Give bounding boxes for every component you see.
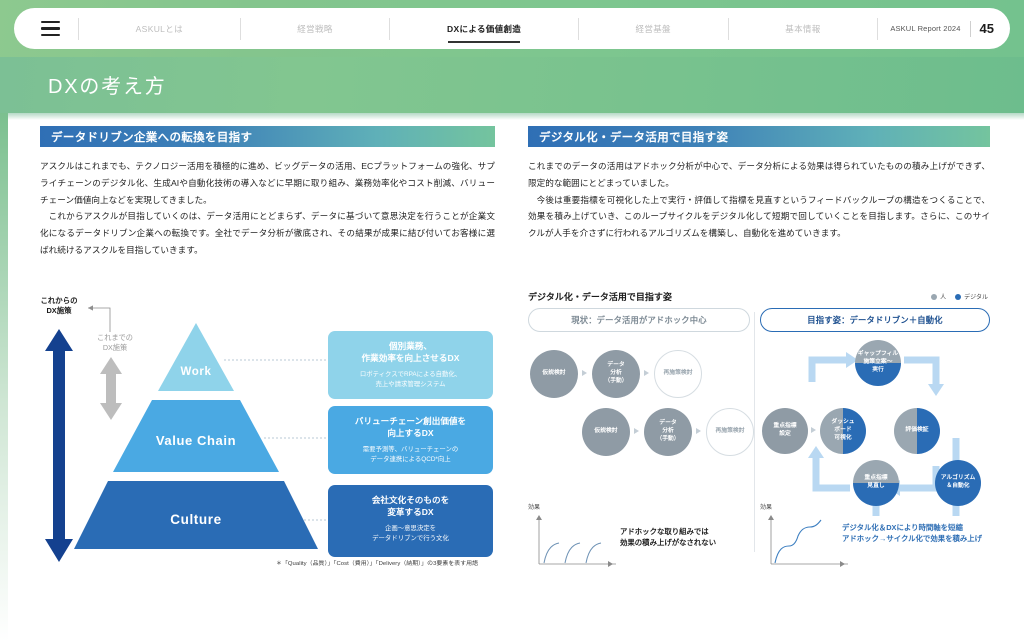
pyramid-label-value-chain: Value Chain	[156, 433, 236, 448]
left-paragraph-2: これからアスクルが目指していくのは、データ活用にとどまらず、データに基づいて意思…	[40, 208, 495, 258]
left-body-text: アスクルはこれまでも、テクノロジー活用を積極的に進め、ビッグデータの活用、ECプ…	[40, 158, 495, 259]
panel-separator	[754, 312, 755, 552]
pyramid-label-culture: Culture	[170, 512, 221, 527]
report-title-label: ASKUL Report 2024	[890, 24, 960, 33]
node-key-metric-review: 重点指標 見直し	[853, 460, 899, 506]
arrow-icon-2	[644, 370, 649, 376]
chart-adhoc: 効果	[528, 504, 624, 570]
right-section-heading: デジタル化・データ活用で目指す姿	[528, 126, 990, 147]
panel-target-state: 目指す姿：データドリブン＋自動化 ギャップフィル	[760, 308, 990, 580]
node-dashboard-visualization: ダッシュ ボード 可視化	[820, 408, 866, 454]
digital-transformation-diagram: デジタル化・データ活用で目指す姿 人 デジタル 現状：データ活用がアドホック中心…	[528, 290, 990, 586]
node-key-metric-setting: 重点指標 設定	[762, 408, 808, 454]
nav-item-askul-towa[interactable]: ASKULとは	[79, 17, 240, 41]
pyramid-footnote: ＊「Quality（品質）」「Cost（費用）」「Delivery（納期）」の3…	[276, 558, 478, 567]
hamburger-menu-icon[interactable]	[22, 21, 78, 36]
node-evaluation-verification: 評価検証	[894, 408, 940, 454]
node-gap-fill-execution: ギャップフィル 施策立案〜 実行	[855, 340, 901, 386]
left-column: データドリブン企業への転換を目指す アスクルはこれまでも、テクノロジー活用を積極…	[40, 126, 495, 259]
legend-item-human: 人	[931, 292, 946, 301]
right-body-text: これまでのデータの活用はアドホック分析が中心で、データ分析による効果は得られてい…	[528, 158, 990, 242]
left-section-heading: データドリブン企業への転換を目指す	[40, 126, 495, 147]
pyramid-diagram: これからの DX施策 これまでの DX施策	[28, 296, 518, 586]
right-paragraph-2: 今後は重要指標を可視化した上で実行・評価して指標を見直すというフィードバックルー…	[528, 192, 990, 242]
arrow-icon-4	[696, 428, 701, 434]
node-data-analysis-manual-2: データ 分析 （手動）	[644, 408, 692, 456]
diagram-legend: 人 デジタル	[931, 292, 988, 301]
chart-cycle-note: デジタル化＆DXにより時間軸を短縮 アドホック→サイクル化で効果を積み上げ	[842, 522, 994, 545]
pyramid-box-value-chain-title: バリューチェーン創出価値を 向上するDX	[334, 415, 487, 440]
chart-cycle-ylabel: 効果	[760, 502, 772, 511]
pyramid-box-culture-subtitle: 企画〜意思決定を データドリブンで行う文化	[334, 524, 487, 543]
target-state-caption: 目指す姿：データドリブン＋自動化	[760, 308, 990, 332]
nav-item-keiei-senryaku[interactable]: 経営戦略	[241, 17, 390, 41]
arrow-icon-1	[582, 370, 587, 376]
title-band-shadow	[0, 113, 1024, 120]
legend-label-human: 人	[940, 292, 946, 301]
node-data-analysis-manual-1: データ 分析 （手動）	[592, 350, 640, 398]
current-state-caption: 現状：データ活用がアドホック中心	[528, 308, 750, 332]
node-hypothesis-1: 仮説検討	[530, 350, 578, 398]
pyramid-box-culture: 会社文化そのものを 変革するDX 企画〜意思決定を データドリブンで行う文化	[328, 485, 493, 557]
pyramid-box-work-subtitle: ロボティクスでRPAによる自動化、 売上や請求管理システム	[334, 370, 487, 389]
panel-current-state: 現状：データ活用がアドホック中心 仮説検討 データ 分析 （手動） 再施策検討 …	[528, 308, 750, 580]
nav-divider	[970, 21, 971, 37]
nav-report-info: ASKUL Report 2024 45	[878, 21, 1010, 37]
chart-adhoc-note: アドホックな取り組みでは 効果の積み上げがなされない	[620, 526, 755, 549]
pyramid-box-work: 個別業務、 作業効率を向上させるDX ロボティクスでRPAによる自動化、 売上や…	[328, 331, 493, 399]
node-hypothesis-2: 仮説検討	[582, 408, 630, 456]
legend-dot-human-icon	[931, 294, 937, 300]
pyramid-box-value-chain-subtitle: 需要予測等、バリューチェーンの データ連携によるQCD*向上	[334, 445, 487, 464]
page-number: 45	[980, 21, 994, 36]
node-re-measure-2: 再施策検討	[706, 408, 754, 456]
future-scope-arrow	[45, 329, 73, 562]
nav-item-keiei-kiban[interactable]: 経営基盤	[579, 17, 728, 41]
arrow-icon-5	[811, 427, 816, 433]
diagram-title: デジタル化・データ活用で目指す姿	[528, 290, 672, 303]
node-re-measure-1: 再施策検討	[654, 350, 702, 398]
left-accent-bar	[0, 113, 8, 642]
top-navigation-bar: ASKULとは 経営戦略 DXによる価値創造 経営基盤 基本情報 ASKUL R…	[14, 8, 1010, 49]
pyramid-label-work: Work	[181, 366, 212, 378]
nav-item-kihon-jouhou[interactable]: 基本情報	[729, 17, 878, 41]
arrow-icon-3	[634, 428, 639, 434]
right-column: デジタル化・データ活用で目指す姿 これまでのデータの活用はアドホック分析が中心で…	[528, 126, 990, 242]
pyramid-box-value-chain: バリューチェーン創出価値を 向上するDX 需要予測等、バリューチェーンの データ…	[328, 406, 493, 474]
right-paragraph-1: これまでのデータの活用はアドホック分析が中心で、データ分析による効果は得られてい…	[528, 158, 990, 192]
pyramid-box-work-title: 個別業務、 作業効率を向上させるDX	[334, 340, 487, 365]
left-paragraph-1: アスクルはこれまでも、テクノロジー活用を積極的に進め、ビッグデータの活用、ECプ…	[40, 158, 495, 208]
page-title-band: DXの考え方	[0, 57, 1024, 113]
chart-adhoc-ylabel: 効果	[528, 502, 540, 511]
past-scope-arrow	[100, 357, 122, 420]
pyramid-box-culture-title: 会社文化そのものを 変革するDX	[334, 494, 487, 519]
pyramid-layer-work	[158, 323, 234, 391]
nav-item-dx-kachi-souzou[interactable]: DXによる価値創造	[390, 17, 577, 41]
page-title: DXの考え方	[48, 70, 167, 99]
legend-label-digital: デジタル	[964, 292, 988, 301]
node-algorithm-automation: アルゴリズム ＆自動化	[935, 460, 981, 506]
legend-dot-digital-icon	[955, 294, 961, 300]
legend-item-digital: デジタル	[955, 292, 988, 301]
report-page: ASKULとは 経営戦略 DXによる価値創造 経営基盤 基本情報 ASKUL R…	[0, 0, 1024, 642]
